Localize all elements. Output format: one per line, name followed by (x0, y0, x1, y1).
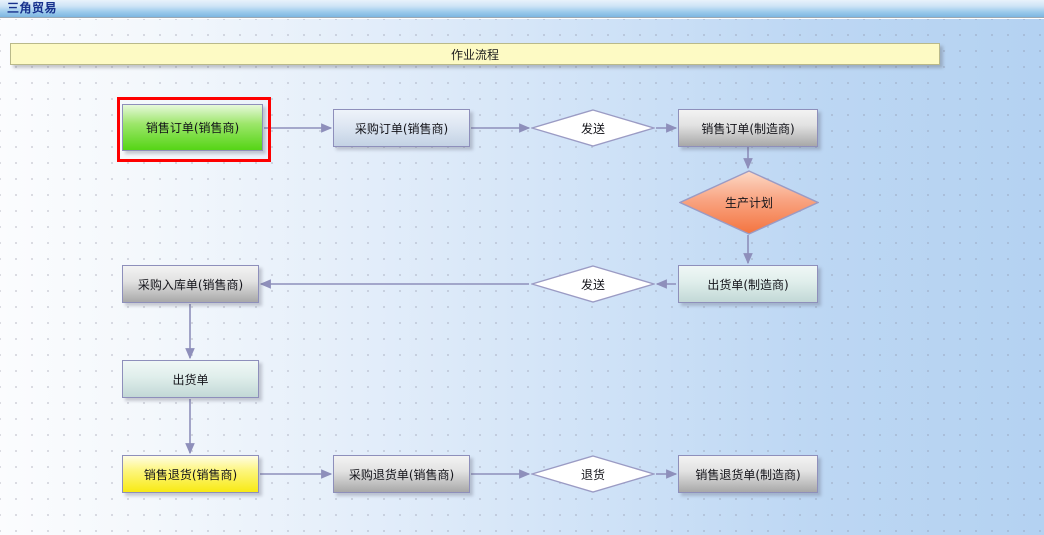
node-return-goods[interactable]: 退货 (531, 455, 655, 493)
node-shipment[interactable]: 出货单 (122, 360, 259, 398)
node-label: 退货 (581, 466, 605, 483)
node-sales-return-dealer[interactable]: 销售退货(销售商) (122, 455, 259, 493)
node-sales-return-maker[interactable]: 销售退货单(制造商) (678, 455, 818, 493)
node-purchase-receipt-dealer[interactable]: 采购入库单(销售商) (122, 265, 259, 303)
selection-marquee[interactable] (117, 97, 271, 162)
node-shipment-maker[interactable]: 出货单(制造商) (678, 265, 818, 303)
node-label: 采购入库单(销售商) (138, 276, 243, 293)
node-label: 采购退货单(销售商) (349, 466, 454, 483)
node-label: 采购订单(销售商) (355, 120, 448, 137)
window-title-bar: 三角贸易 (0, 0, 1044, 18)
node-label: 发送 (581, 120, 605, 137)
flowchart-canvas[interactable]: 作业流程 (0, 19, 1044, 535)
node-send-middle[interactable]: 发送 (531, 265, 655, 303)
node-sales-order-maker[interactable]: 销售订单(制造商) (678, 109, 818, 147)
node-label: 生产计划 (725, 194, 773, 211)
process-banner: 作业流程 (10, 43, 940, 65)
process-banner-label: 作业流程 (11, 44, 939, 64)
node-label: 销售退货(销售商) (144, 466, 237, 483)
window-title: 三角贸易 (7, 1, 57, 16)
node-production-plan[interactable]: 生产计划 (679, 170, 819, 235)
node-label: 销售退货单(制造商) (695, 466, 800, 483)
node-label: 发送 (581, 276, 605, 293)
node-purchase-order-dealer[interactable]: 采购订单(销售商) (333, 109, 470, 147)
node-label: 出货单(制造商) (707, 276, 788, 293)
node-purchase-return-dealer[interactable]: 采购退货单(销售商) (333, 455, 470, 493)
node-send-top[interactable]: 发送 (531, 109, 655, 147)
node-label: 销售订单(制造商) (701, 120, 794, 137)
node-label: 出货单 (172, 371, 208, 388)
